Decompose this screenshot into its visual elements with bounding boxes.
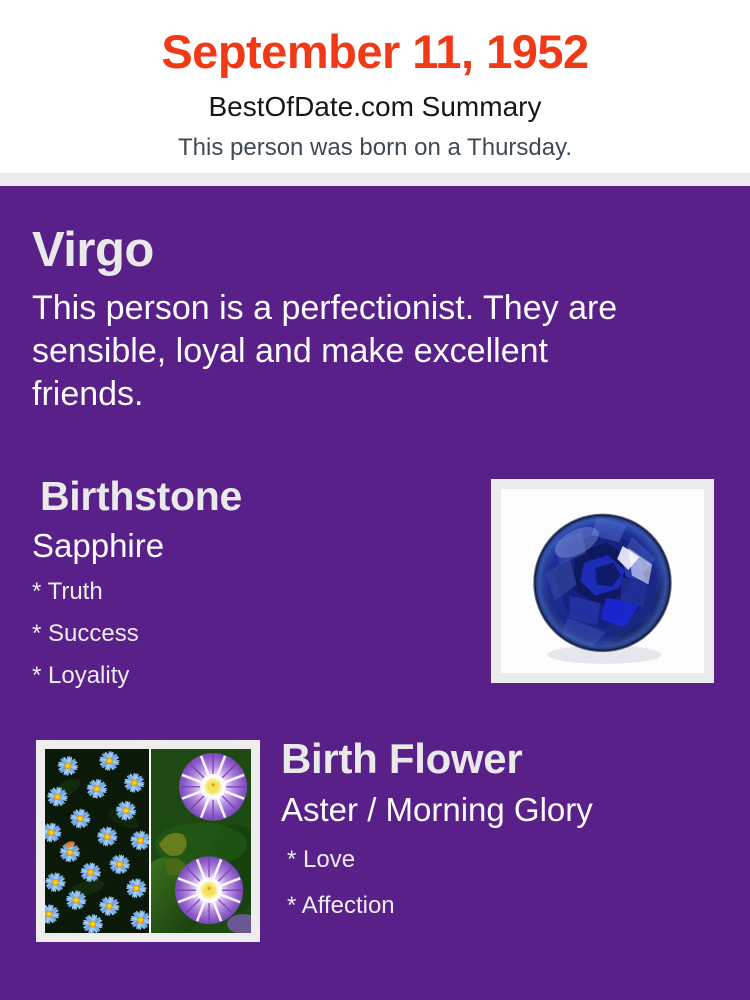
morning-glory-photo-half xyxy=(149,749,251,933)
site-summary-label: BestOfDate.com Summary xyxy=(0,75,750,121)
birth-flower-name: Aster / Morning Glory xyxy=(281,793,711,826)
page-title: September 11, 1952 xyxy=(0,0,750,75)
birthstone-name: Sapphire xyxy=(32,529,472,562)
birthstone-section: Birthstone Sapphire * Truth * Success * … xyxy=(32,476,472,688)
birthday-summary-card: September 11, 1952 BestOfDate.com Summar… xyxy=(0,0,750,1000)
birthstone-title: Birthstone xyxy=(32,476,472,517)
birth-flower-title: Birth Flower xyxy=(281,738,711,780)
zodiac-description: This person is a perfectionist. They are… xyxy=(32,287,652,417)
birth-flower-image-frame xyxy=(36,740,260,942)
birth-flower-trait: * Love xyxy=(287,848,711,872)
born-day-text: This person was born on a Thursday. xyxy=(0,121,750,160)
header: September 11, 1952 BestOfDate.com Summar… xyxy=(0,0,750,173)
birth-flower-trait: * Affection xyxy=(287,894,711,918)
birthstone-image-frame xyxy=(491,479,714,683)
sapphire-gem-icon xyxy=(501,489,704,673)
birthstone-trait: * Success xyxy=(32,622,472,646)
header-divider xyxy=(0,173,750,186)
birth-flower-section: Birth Flower Aster / Morning Glory * Lov… xyxy=(281,738,711,918)
content-body: Virgo This person is a perfectionist. Th… xyxy=(0,186,750,1000)
zodiac-sign-name: Virgo xyxy=(32,226,692,275)
birthstone-trait: * Loyality xyxy=(32,664,472,688)
zodiac-section: Virgo This person is a perfectionist. Th… xyxy=(32,226,692,417)
aster-photo-half xyxy=(45,749,149,933)
birthstone-trait: * Truth xyxy=(32,580,472,604)
aster-morning-glory-photo xyxy=(45,749,251,933)
